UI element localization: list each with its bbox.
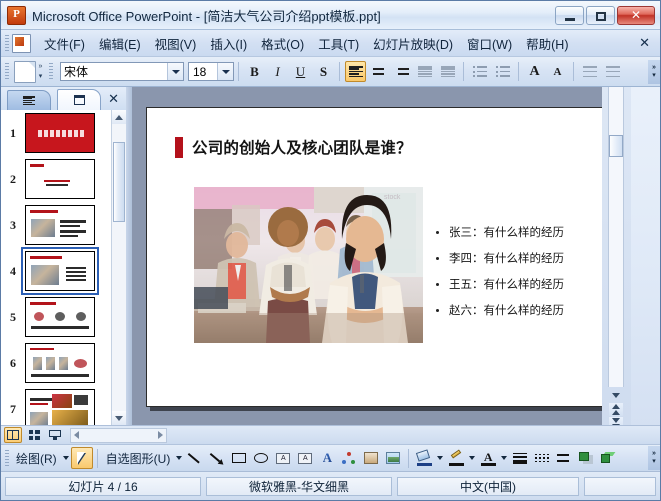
font-name-value: 宋体	[61, 63, 167, 80]
bullet-icon	[436, 309, 439, 312]
slide-sorter-icon	[29, 430, 40, 440]
clip-art-icon	[364, 452, 378, 464]
select-objects-button[interactable]	[71, 447, 93, 469]
promote-icon	[583, 66, 597, 77]
list-item[interactable]: 李四：有什么样的经历	[436, 250, 564, 266]
dash-style-icon	[535, 453, 549, 464]
chevron-down-icon[interactable]	[61, 456, 71, 460]
demote-button[interactable]	[602, 61, 623, 82]
spell-check-field	[584, 477, 656, 496]
line-spacing-icon	[441, 66, 455, 77]
italic-icon: I	[275, 64, 279, 80]
normal-view-button[interactable]	[4, 427, 22, 443]
line-icon	[188, 452, 202, 464]
separator	[463, 62, 464, 81]
scrollbar-thumb[interactable]	[113, 142, 125, 222]
menu-help[interactable]: 帮助(H)	[519, 31, 575, 56]
slide-thumbnail[interactable]	[25, 205, 95, 245]
separator	[97, 449, 98, 468]
toolbar-grip-2[interactable]	[49, 63, 53, 80]
wordart-a-icon: A	[323, 450, 332, 466]
chevron-down-icon[interactable]	[467, 456, 477, 460]
slide-canvas: 公司的创始人及核心团队是谁？	[132, 87, 631, 425]
decrease-font-size-button[interactable]: A	[547, 61, 568, 82]
menu-insert[interactable]: 插入(I)	[203, 31, 254, 56]
line-style-button[interactable]	[509, 447, 531, 469]
align-center-button[interactable]	[368, 61, 389, 82]
slide-title-text: 公司的创始人及核心团队是谁？	[192, 136, 412, 158]
bullet-text: 张三：有什么样的经历	[449, 224, 564, 240]
scroll-up-icon[interactable]	[112, 110, 126, 124]
photo-svg: stock	[194, 187, 423, 343]
thumbnail-number: 3	[5, 218, 21, 233]
arrow-style-icon	[557, 452, 571, 464]
text-shadow-button[interactable]: S	[313, 61, 334, 82]
svg-text:stock: stock	[384, 194, 401, 201]
bullet-text: 王五：有什么样的经历	[449, 276, 564, 292]
chevron-down-icon[interactable]	[499, 456, 509, 460]
powerpoint-icon	[7, 6, 26, 25]
italic-button[interactable]: I	[267, 61, 288, 82]
fill-color-button[interactable]	[413, 447, 435, 469]
slide-thumbnail-selected[interactable]	[25, 251, 95, 291]
font-color-button[interactable]: A	[477, 447, 499, 469]
scrollbar-track[interactable]	[608, 87, 624, 387]
formatting-toolbar: »▾ 宋体 18 B I U S A A »▾	[1, 57, 660, 87]
slide-show-button[interactable]	[46, 427, 64, 443]
insert-picture-button[interactable]	[382, 447, 404, 469]
list-item[interactable]: 5	[1, 294, 111, 340]
menu-grip[interactable]	[5, 35, 9, 52]
toolbar-overflow-button[interactable]: »▾	[648, 60, 660, 84]
line-color-icon	[449, 451, 464, 466]
numbered-list-button[interactable]	[469, 61, 490, 82]
menu-view[interactable]: 视图(V)	[148, 31, 204, 56]
underline-icon: U	[296, 64, 305, 80]
title-accent-bar	[175, 137, 183, 158]
underline-button[interactable]: U	[290, 61, 311, 82]
align-center-icon	[372, 66, 386, 77]
list-item[interactable]: 4	[1, 248, 111, 294]
horizontal-scrollbar[interactable]	[70, 428, 167, 443]
previous-slide-button[interactable]	[609, 403, 623, 416]
slide-thumbnail-list[interactable]: 1 2 3	[1, 110, 111, 425]
outline-icon	[23, 96, 35, 105]
line-spacing-button[interactable]	[437, 61, 458, 82]
arrow-cursor-icon	[77, 452, 86, 465]
increase-font-icon: A	[529, 64, 539, 80]
autoshapes-menu-button[interactable]: 自选图形(U)	[102, 448, 175, 469]
thumbnail-number: 2	[5, 172, 21, 187]
list-item[interactable]: 2	[1, 156, 111, 202]
view-bar	[1, 425, 660, 444]
bullet-list-icon	[496, 66, 510, 77]
fill-color-icon	[417, 451, 432, 466]
close-button[interactable]: ✕	[617, 6, 655, 25]
distributed-icon	[418, 66, 432, 77]
document-icon	[12, 34, 31, 53]
clip-art-button[interactable]	[360, 447, 382, 469]
wordart-tool-button[interactable]: A	[294, 447, 316, 469]
demote-icon	[606, 66, 620, 77]
dash-style-button[interactable]	[531, 447, 553, 469]
design-template-name[interactable]: 微软雅黑-华文细黑	[206, 477, 392, 496]
window-title: Microsoft Office PowerPoint - [简洁大气公司介绍p…	[32, 6, 553, 25]
three-d-style-button[interactable]	[597, 447, 619, 469]
slide-thumbnail[interactable]	[25, 113, 95, 153]
drawing-toolbar: 绘图(R) 自选图形(U) A A A A »▾	[1, 444, 660, 472]
menu-tools[interactable]: 工具(T)	[311, 31, 366, 56]
separator	[238, 62, 239, 81]
bold-button[interactable]: B	[244, 61, 265, 82]
normal-view-icon	[7, 430, 19, 440]
slide-vertical-scrollbar[interactable]	[602, 87, 631, 425]
numbered-list-icon	[473, 66, 487, 77]
diagram-tool-button[interactable]	[338, 447, 360, 469]
title-bar: Microsoft Office PowerPoint - [简洁大气公司介绍p…	[1, 1, 660, 30]
slide-bullet-list[interactable]: 张三：有什么样的经历 李四：有什么样的经历 王五：有什么样的经历 赵六：有什么样…	[436, 224, 564, 328]
font-size-value: 18	[189, 65, 217, 79]
maximize-button[interactable]	[586, 6, 615, 25]
chevron-down-icon[interactable]	[167, 63, 183, 80]
decrease-font-icon: A	[554, 66, 562, 78]
scroll-down-icon[interactable]	[609, 389, 623, 402]
line-color-button[interactable]	[445, 447, 467, 469]
text-box-icon: A	[276, 453, 290, 464]
bullet-text: 赵六：有什么样的经历	[449, 302, 564, 318]
rectangle-icon	[232, 453, 246, 463]
separator	[339, 62, 340, 81]
shadow-style-button[interactable]	[575, 447, 597, 469]
list-item[interactable]: 7	[1, 386, 111, 425]
close-document-icon[interactable]: ✕	[639, 35, 650, 51]
bullet-icon	[436, 231, 439, 234]
slides-icon	[74, 95, 85, 105]
rectangle-tool-button[interactable]	[228, 447, 250, 469]
slide-thumbnail[interactable]	[25, 297, 95, 337]
arrow-icon	[210, 452, 224, 464]
insert-wordart-button[interactable]: A	[316, 447, 338, 469]
align-right-icon	[395, 66, 409, 77]
drawing-toolbar-grip[interactable]	[5, 450, 9, 467]
bulleted-list-button[interactable]	[492, 61, 513, 82]
slide-sorter-button[interactable]	[25, 427, 43, 443]
toolbar-options-1[interactable]: »▾	[36, 62, 45, 82]
scroll-right-icon[interactable]	[158, 431, 166, 439]
bullet-icon	[436, 257, 439, 260]
bold-icon: B	[250, 64, 259, 80]
list-item[interactable]: 张三：有什么样的经历	[436, 224, 564, 240]
slide-thumbnail[interactable]	[25, 343, 95, 383]
line-style-icon	[513, 453, 527, 464]
promote-button[interactable]	[579, 61, 600, 82]
list-item[interactable]: 6	[1, 340, 111, 386]
chevron-down-icon[interactable]	[174, 456, 184, 460]
thumbnail-scrollbar[interactable]	[111, 110, 126, 425]
list-item[interactable]: 3	[1, 202, 111, 248]
menu-edit[interactable]: 编辑(E)	[92, 31, 148, 56]
slide-indicator: 幻灯片 4 / 16	[5, 477, 201, 496]
wordart-icon: A	[298, 453, 312, 464]
diagram-icon	[342, 452, 356, 465]
arrow-style-button[interactable]	[553, 447, 575, 469]
font-name-combo[interactable]: 宋体	[60, 62, 184, 81]
menu-bar: 文件(F) 编辑(E) 视图(V) 插入(I) 格式(O) 工具(T) 幻灯片放…	[1, 30, 660, 57]
slide-show-icon	[49, 430, 61, 440]
powerpoint-window: Microsoft Office PowerPoint - [简洁大气公司介绍p…	[0, 0, 661, 501]
scroll-left-icon[interactable]	[71, 431, 79, 439]
chevron-down-icon[interactable]	[217, 63, 233, 80]
thumbnail-number: 4	[5, 264, 21, 279]
thumbnail-number: 6	[5, 356, 21, 371]
toolbar-grip-1[interactable]	[5, 63, 9, 80]
thumbnail-number: 5	[5, 310, 21, 325]
list-item[interactable]: 赵六：有什么样的经历	[436, 302, 564, 318]
panel-tab-strip: ✕	[1, 87, 126, 110]
menu-file[interactable]: 文件(F)	[37, 31, 92, 56]
separator	[408, 449, 409, 468]
list-item[interactable]: 王五：有什么样的经历	[436, 276, 564, 292]
tab-slides[interactable]	[57, 89, 101, 110]
align-left-button[interactable]	[345, 61, 366, 82]
shadow-style-icon	[579, 452, 593, 464]
separator	[573, 62, 574, 81]
tab-outline[interactable]	[7, 90, 51, 110]
arrow-tool-button[interactable]	[206, 447, 228, 469]
list-item[interactable]: 1	[1, 110, 111, 156]
separator	[518, 62, 519, 81]
window-controls: ✕	[553, 6, 655, 25]
minimize-button[interactable]	[555, 6, 584, 25]
new-slide-icon[interactable]	[14, 61, 36, 83]
picture-icon	[386, 452, 400, 464]
outline-slides-panel: ✕ 1 2 3	[1, 87, 126, 425]
scroll-down-icon[interactable]	[112, 411, 126, 425]
bullet-icon	[436, 283, 439, 286]
slide-thumbnail[interactable]	[25, 389, 95, 425]
work-area: ✕ 1 2 3	[1, 87, 660, 425]
align-left-icon	[349, 66, 363, 77]
close-icon: ✕	[618, 7, 654, 24]
menu-format[interactable]: 格式(O)	[254, 31, 311, 56]
menu-window[interactable]: 窗口(W)	[460, 31, 519, 56]
draw-menu-button[interactable]: 绘图(R)	[12, 448, 61, 469]
slide-thumbnail[interactable]	[25, 159, 95, 199]
line-tool-button[interactable]	[184, 447, 206, 469]
distributed-align-button[interactable]	[414, 61, 435, 82]
text-box-tool-button[interactable]: A	[272, 447, 294, 469]
menu-slideshow[interactable]: 幻灯片放映(D)	[366, 31, 460, 56]
increase-font-size-button[interactable]: A	[524, 61, 545, 82]
3d-style-icon	[601, 452, 615, 464]
scrollbar-thumb[interactable]	[609, 135, 623, 157]
oval-tool-button[interactable]	[250, 447, 272, 469]
current-slide[interactable]: 公司的创始人及核心团队是谁？	[146, 107, 625, 407]
bullet-text: 李四：有什么样的经历	[449, 250, 564, 266]
chevron-down-icon[interactable]	[435, 456, 445, 460]
status-bar: 幻灯片 4 / 16 微软雅黑-华文细黑 中文(中国)	[1, 472, 660, 500]
drawing-toolbar-overflow[interactable]: »▾	[648, 446, 660, 470]
font-size-combo[interactable]: 18	[188, 62, 234, 81]
shadow-icon: S	[320, 64, 327, 80]
business-team-photo[interactable]: stock	[194, 187, 423, 343]
align-right-button[interactable]	[391, 61, 412, 82]
oval-icon	[254, 453, 268, 463]
slide-title-block[interactable]: 公司的创始人及核心团队是谁？	[175, 136, 412, 158]
thumbnail-number: 7	[5, 402, 21, 417]
panel-close-icon[interactable]: ✕	[108, 91, 119, 107]
language-indicator[interactable]: 中文(中国)	[397, 477, 579, 496]
thumbnail-number: 1	[5, 126, 21, 141]
font-color-icon: A	[481, 451, 496, 466]
